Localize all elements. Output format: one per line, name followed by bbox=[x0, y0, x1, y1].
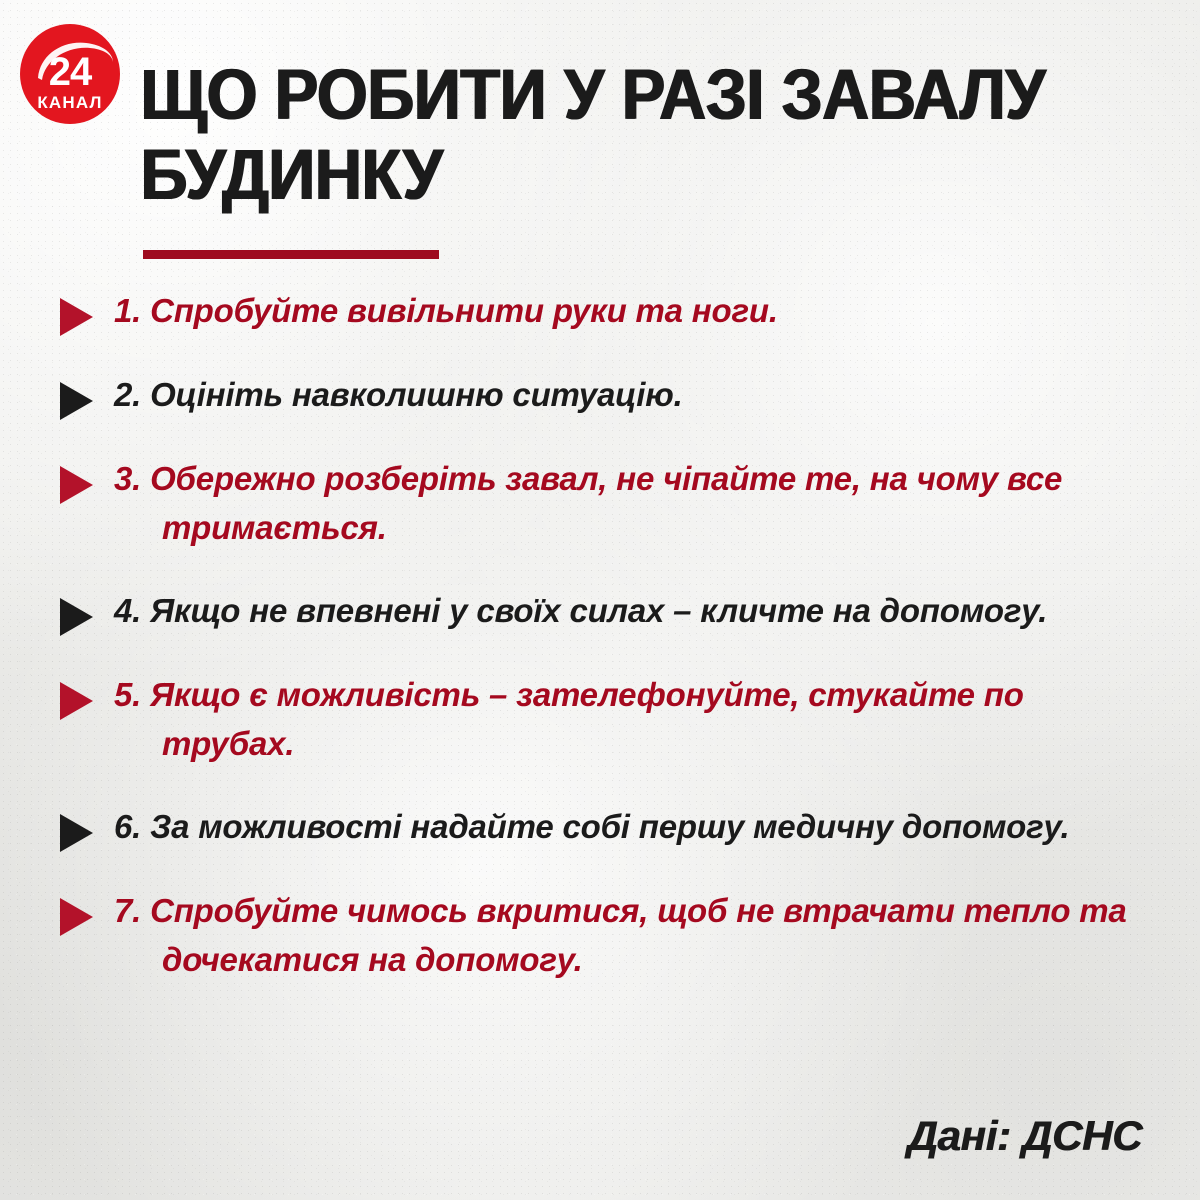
page-title: ЩО РОБИТИ У РАЗІ ЗАВАЛУ БУДИНКУ bbox=[140, 56, 1150, 216]
list-item: 3. Обережно розберіть завал, не чіпайте … bbox=[0, 454, 1200, 552]
infographic-poster: 24 КАНАЛ ЩО РОБИТИ У РАЗІ ЗАВАЛУ БУДИНКУ… bbox=[0, 0, 1200, 1200]
triangle-bullet-icon bbox=[60, 298, 93, 336]
title-divider bbox=[143, 250, 439, 259]
list-item-text: 6. За можливості надайте собі першу меди… bbox=[114, 802, 1110, 851]
triangle-bullet-icon bbox=[60, 382, 93, 420]
triangle-bullet-icon bbox=[60, 598, 93, 636]
triangle-bullet-icon bbox=[60, 682, 93, 720]
triangle-bullet-icon bbox=[60, 466, 93, 504]
triangle-bullet-icon bbox=[60, 898, 93, 936]
list-item-text: 1. Спробуйте вивільнити руки та ноги. bbox=[114, 286, 1022, 335]
title-line-1: ЩО РОБИТИ У РАЗІ ЗАВАЛУ bbox=[140, 56, 1069, 136]
source-attribution: Дані: ДСНС bbox=[907, 1112, 1142, 1160]
logo-icon: 24 КАНАЛ bbox=[18, 22, 122, 126]
list-item: 6. За можливості надайте собі першу меди… bbox=[0, 802, 1200, 852]
list-item: 5. Якщо є можливість – зателефонуйте, ст… bbox=[0, 670, 1200, 768]
title-line-2: БУДИНКУ bbox=[140, 136, 1069, 216]
triangle-bullet-icon bbox=[60, 814, 93, 852]
list-item-text: 2. Оцініть навколишню ситуацію. bbox=[114, 370, 1022, 419]
channel-24-logo[interactable]: 24 КАНАЛ bbox=[18, 22, 122, 126]
list-item-text: 4. Якщо не впевнені у своїх силах – клич… bbox=[114, 586, 1114, 635]
list-item-text: 5. Якщо є можливість – зателефонуйте, ст… bbox=[114, 670, 1162, 768]
list-item: 1. Спробуйте вивільнити руки та ноги. bbox=[0, 286, 1200, 336]
svg-text:24: 24 bbox=[49, 50, 93, 94]
list-item: 2. Оцініть навколишню ситуацію. bbox=[0, 370, 1200, 420]
svg-text:КАНАЛ: КАНАЛ bbox=[37, 93, 102, 112]
instruction-list: 1. Спробуйте вивільнити руки та ноги. 2.… bbox=[0, 286, 1200, 1018]
list-item-text: 3. Обережно розберіть завал, не чіпайте … bbox=[114, 454, 1082, 552]
list-item: 7. Спробуйте чимось вкритися, щоб не втр… bbox=[0, 886, 1200, 984]
list-item-text: 7. Спробуйте чимось вкритися, щоб не втр… bbox=[114, 886, 1147, 984]
list-item: 4. Якщо не впевнені у своїх силах – клич… bbox=[0, 586, 1200, 636]
